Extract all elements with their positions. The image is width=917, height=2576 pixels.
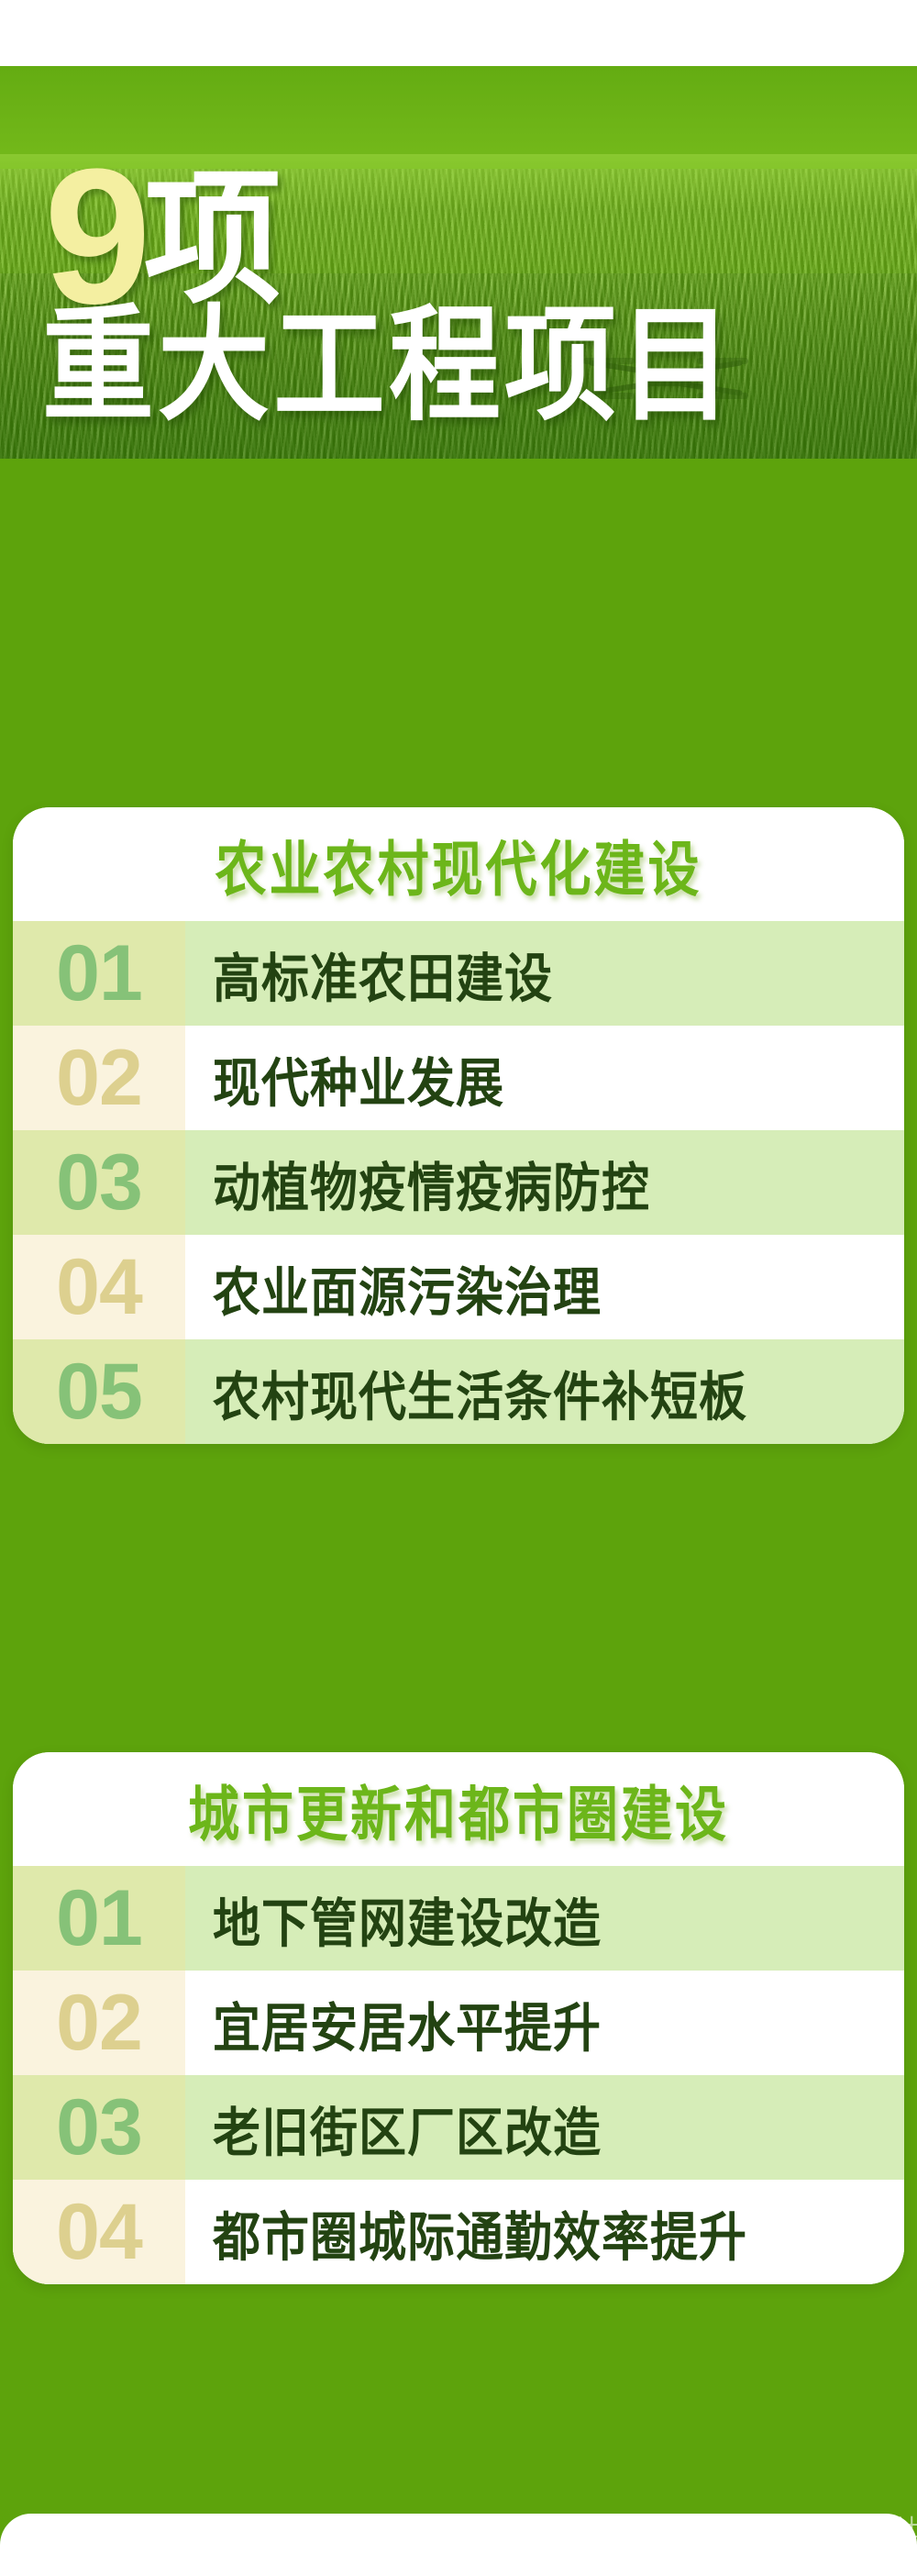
section-title: 农业农村现代化建设 <box>215 821 702 907</box>
item-label: 农业面源污染治理 <box>185 1229 904 1344</box>
list-item[interactable]: 03 动植物疫情疫病防控 <box>13 1130 904 1235</box>
item-number: 05 <box>13 1339 185 1444</box>
item-label: 动植物疫情疫病防控 <box>185 1125 904 1239</box>
item-label: 农村现代生活条件补短板 <box>185 1334 904 1444</box>
item-number: 01 <box>13 921 185 1026</box>
list-item[interactable]: 04 都市圈城际通勤效率提升 <box>13 2180 904 2284</box>
hero-title: 重大工程项目 <box>42 303 735 428</box>
item-number: 02 <box>13 1971 185 2075</box>
hero-banner: 9 项 重大工程项目 <box>0 66 917 459</box>
watermark-right: @新华社 <box>790 2510 917 2544</box>
list-item[interactable]: 03 老旧街区厂区改造 <box>13 2075 904 2180</box>
hero-count-line: 9 项 <box>44 158 282 316</box>
item-number: 03 <box>13 1130 185 1235</box>
item-label: 现代种业发展 <box>185 1020 904 1135</box>
item-number: 03 <box>13 2075 185 2180</box>
item-number: 04 <box>13 1235 185 1339</box>
list-item[interactable]: 01 地下管网建设改造 <box>13 1866 904 1971</box>
item-label: 地下管网建设改造 <box>185 1860 904 1975</box>
list-item[interactable]: 05 农村现代生活条件补短板 <box>13 1339 904 1444</box>
watermark-right-text: @新华社 <box>823 2510 917 2544</box>
item-label: 老旧街区厂区改造 <box>185 2070 904 2184</box>
list-item[interactable]: 04 农业面源污染治理 <box>13 1235 904 1339</box>
watermark-left-text: @金融八卦女 <box>403 2510 547 2544</box>
hero-count: 9 <box>44 158 148 316</box>
list-item[interactable]: 01 高标准农田建设 <box>13 921 904 1026</box>
section-title: 城市更新和都市圈建设 <box>188 1766 729 1852</box>
section-header: 农业农村现代化建设 <box>13 807 904 921</box>
item-number: 02 <box>13 1026 185 1130</box>
list-item[interactable]: 02 宜居安居水平提升 <box>13 1971 904 2075</box>
list-item[interactable]: 02 现代种业发展 <box>13 1026 904 1130</box>
section-card-agriculture: 农业农村现代化建设 01 高标准农田建设 02 现代种业发展 03 动植物疫情疫… <box>13 807 904 1444</box>
watermark-left: @金融八卦女 <box>370 2510 547 2544</box>
item-label: 都市圈城际通勤效率提升 <box>185 2174 904 2284</box>
weibo-icon <box>370 2515 398 2539</box>
weibo-icon <box>790 2515 818 2539</box>
item-label: 高标准农田建设 <box>185 916 904 1030</box>
section-header: 城市更新和都市圈建设 <box>13 1752 904 1866</box>
top-bar <box>0 0 917 66</box>
item-number: 04 <box>13 2180 185 2284</box>
item-number: 01 <box>13 1866 185 1971</box>
section-card-urban: 城市更新和都市圈建设 01 地下管网建设改造 02 宜居安居水平提升 03 老旧… <box>13 1752 904 2284</box>
hero-count-unit: 项 <box>144 170 282 308</box>
item-label: 宜居安居水平提升 <box>185 1965 904 2080</box>
